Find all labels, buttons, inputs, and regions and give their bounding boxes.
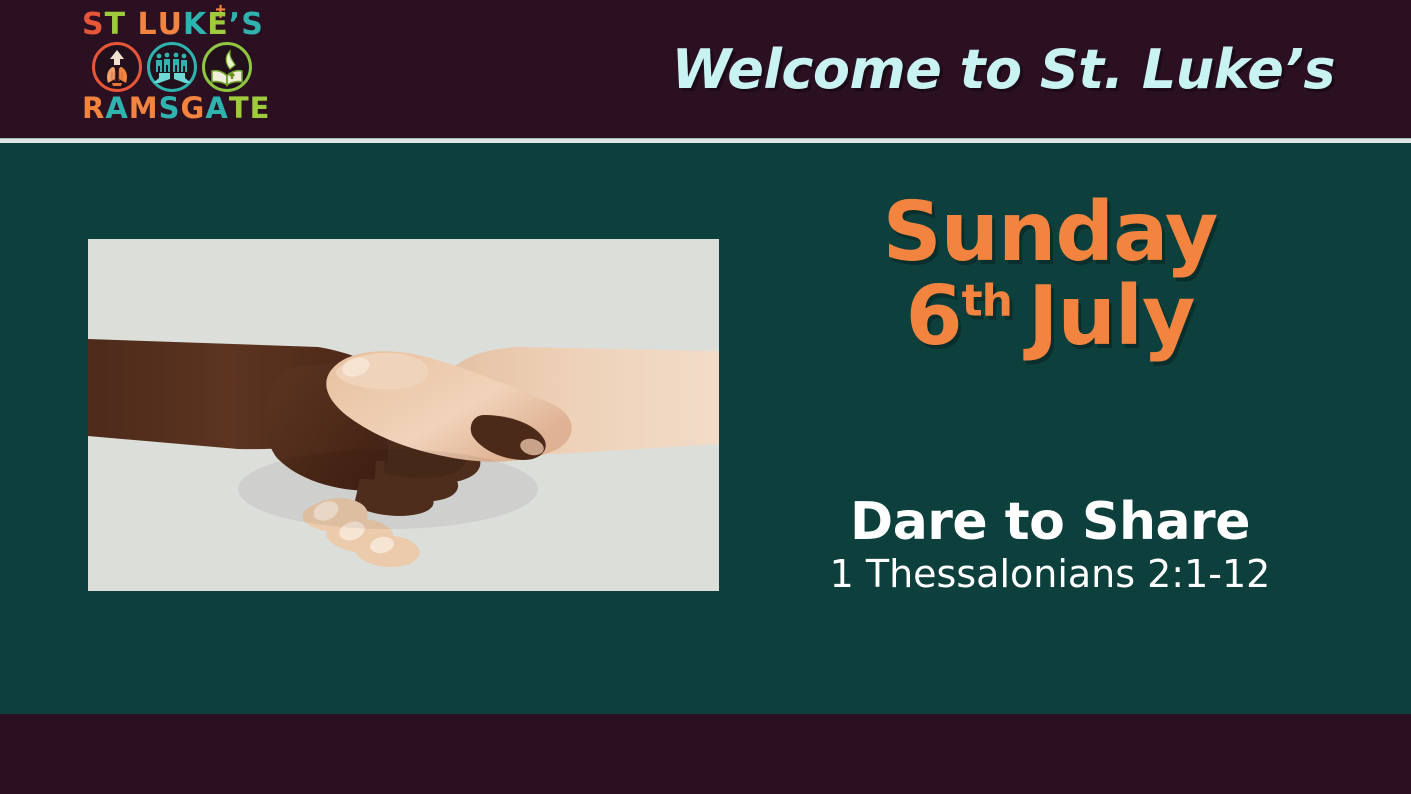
date-weekday: Sunday (740, 193, 1360, 273)
footer-bar (0, 714, 1411, 794)
handshake-photo (88, 239, 719, 591)
sermon-info: Dare to Share 1 Thessalonians 2:1-12 (740, 495, 1360, 595)
date-ordinal-suffix: th (962, 276, 1012, 327)
date-day-month: 6thJuly (740, 277, 1360, 357)
open-bible-icon (202, 42, 252, 92)
sermon-title: Dare to Share (740, 495, 1360, 550)
logo-wordmark-bottom: RAMSGATE (82, 94, 262, 123)
praying-hands-icon (92, 42, 142, 92)
logo-wordmark-top: ST LUKE’S (82, 10, 262, 40)
date-day-number: 6 (906, 269, 962, 364)
people-group-icon (147, 42, 197, 92)
date-month: July (1028, 269, 1194, 364)
church-logo: ✝ ST LUKE’S (82, 6, 262, 132)
sermon-reference: 1 Thessalonians 2:1-12 (740, 554, 1360, 596)
welcome-slide: ✝ ST LUKE’S (0, 0, 1411, 794)
logo-icon-circles (90, 42, 254, 94)
welcome-title: Welcome to St. Luke’s (672, 38, 1335, 101)
service-date: Sunday 6thJuly (740, 193, 1360, 358)
